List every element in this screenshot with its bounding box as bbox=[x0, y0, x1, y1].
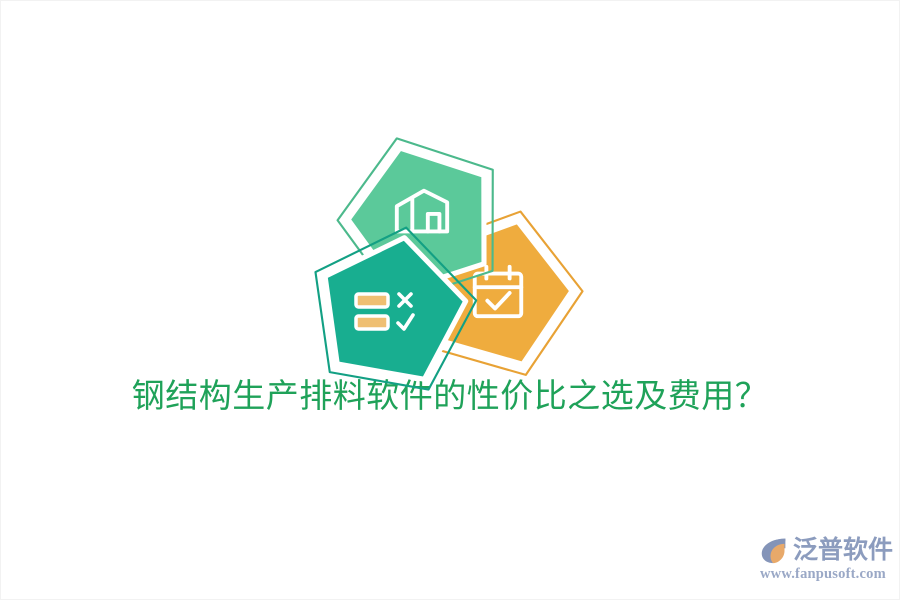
pentagon-icon-cluster bbox=[301, 129, 591, 384]
pentagon-teal bbox=[294, 210, 491, 407]
page-root: 钢结构生产排料软件的性价比之选及费用？ 泛普软件 www.fanpusoft.c… bbox=[0, 0, 900, 600]
brand-row: 泛普软件 bbox=[759, 535, 891, 565]
brand-url: www.fanpusoft.com bbox=[760, 566, 891, 583]
brand-watermark: 泛普软件 www.fanpusoft.com bbox=[759, 535, 891, 587]
brand-name: 泛普软件 bbox=[793, 536, 893, 564]
fanpu-logo-icon bbox=[759, 536, 789, 564]
